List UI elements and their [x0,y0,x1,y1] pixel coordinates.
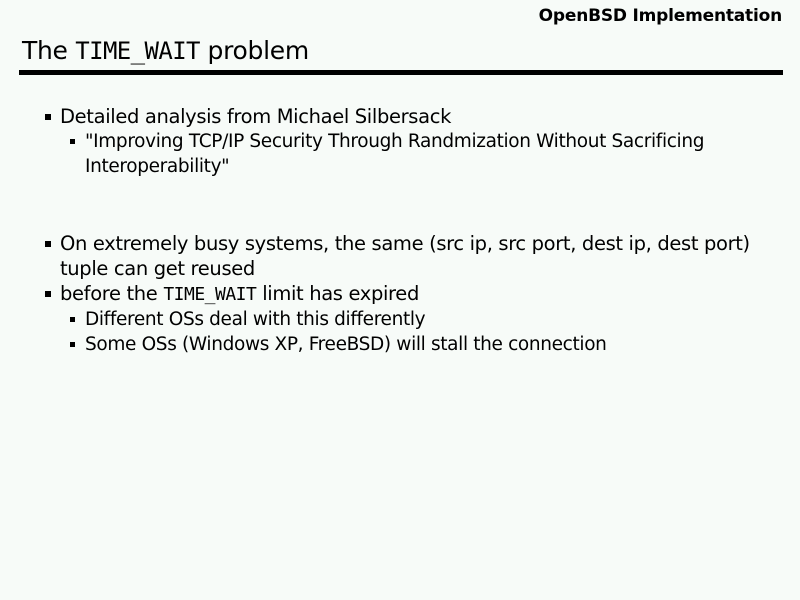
list-item-label: Some OSs (Windows XP, FreeBSD) will stal… [85,334,607,355]
list-item: Different OSs deal with this differently [0,307,800,332]
list-item: On extremely busy systems, the same (src… [0,231,800,281]
square-bullet-icon [45,291,51,297]
group-spacer [0,179,800,231]
list-item-label: "Improving TCP/IP Security Through Randm… [85,131,704,177]
list-item-label: Different OSs deal with this differently [85,309,425,330]
title-divider [19,70,783,75]
square-bullet-icon [70,317,75,322]
square-bullet-icon [70,139,75,144]
list-item: Some OSs (Windows XP, FreeBSD) will stal… [0,332,800,357]
page-title-suffix: problem [200,36,309,65]
square-bullet-icon [70,342,75,347]
list-item-label-code: TIME_WAIT [163,284,256,305]
presentation-slide: OpenBSD Implementation The TIME_WAIT pro… [0,0,800,600]
bullet-group: On extremely busy systems, the same (src… [0,231,800,357]
list-item: before the TIME_WAIT limit has expired [0,281,800,307]
page-title: The TIME_WAIT problem [22,37,309,65]
running-head: OpenBSD Implementation [539,7,782,26]
slide-body: Detailed analysis from Michael Silbersac… [0,104,800,357]
list-item-label-suffix: limit has expired [256,282,419,305]
list-item-label: On extremely busy systems, the same (src… [60,232,750,280]
bullet-group: Detailed analysis from Michael Silbersac… [0,104,800,179]
square-bullet-icon [45,241,51,247]
list-item: "Improving TCP/IP Security Through Randm… [0,129,800,179]
page-title-code: TIME_WAIT [75,37,200,65]
square-bullet-icon [45,114,51,120]
list-item: Detailed analysis from Michael Silbersac… [0,104,800,129]
page-title-prefix: The [22,36,75,65]
list-item-label-prefix: before the [60,282,163,305]
list-item-label: Detailed analysis from Michael Silbersac… [60,105,451,128]
